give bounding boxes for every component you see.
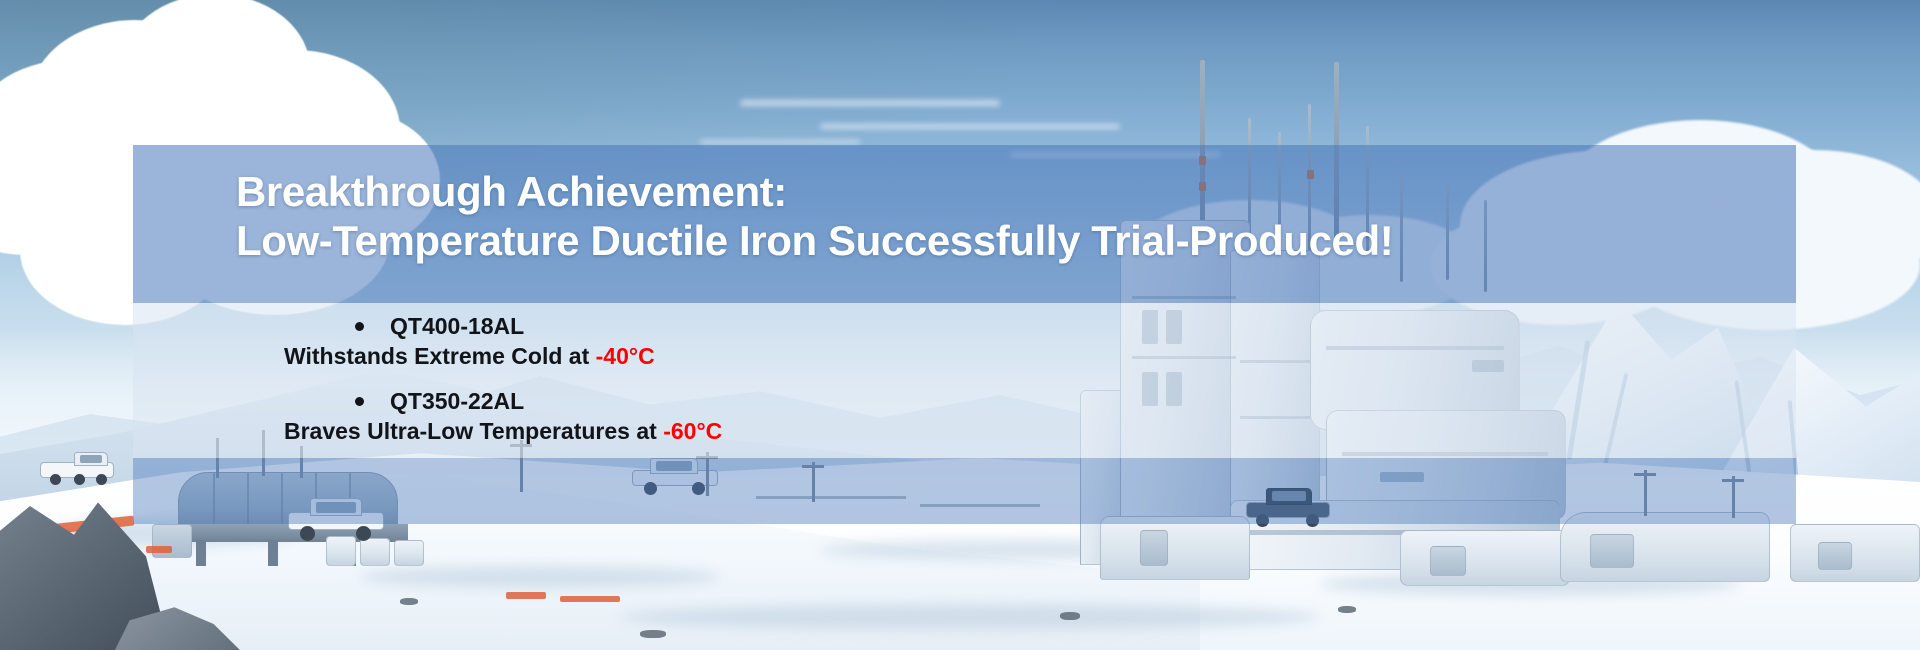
list-item: QT400-18AL Withstands Extreme Cold at -4… <box>133 313 1796 370</box>
snow-debris <box>1338 606 1356 613</box>
cloud-wisp-icon <box>820 124 1120 129</box>
bullet-row: QT350-22AL <box>133 388 1796 416</box>
feature-list: QT400-18AL Withstands Extreme Cold at -4… <box>133 313 1796 463</box>
bullet-description: Withstands Extreme Cold at -40°C <box>133 343 1796 371</box>
snow-debris <box>640 630 666 638</box>
bullet-row: QT400-18AL <box>133 313 1796 341</box>
cloud-wisp-icon <box>740 100 1000 106</box>
headline-line-2: Low-Temperature Ductile Iron Successfull… <box>236 216 1796 265</box>
promo-banner: Breakthrough Achievement: Low-Temperatur… <box>0 0 1920 650</box>
ground-marker <box>506 592 546 599</box>
description-text: Braves Ultra-Low Temperatures at <box>284 418 663 444</box>
temperature-value: -60°C <box>663 418 722 444</box>
cloud-wisp-icon <box>700 140 860 144</box>
bullet-dot-icon <box>355 322 364 331</box>
grade-label: QT400-18AL <box>390 313 524 341</box>
page-title: Breakthrough Achievement: Low-Temperatur… <box>236 167 1796 265</box>
description-text: Withstands Extreme Cold at <box>284 343 596 369</box>
list-item: QT350-22AL Braves Ultra-Low Temperatures… <box>133 388 1796 445</box>
ground-marker <box>146 546 172 553</box>
content-overlay: Breakthrough Achievement: Low-Temperatur… <box>133 145 1796 524</box>
temperature-value: -40°C <box>596 343 655 369</box>
snow-debris <box>1060 612 1080 620</box>
ground-marker <box>560 596 620 602</box>
snow-shadow <box>620 604 1320 630</box>
grade-label: QT350-22AL <box>390 388 524 416</box>
footer-panel <box>133 458 1796 524</box>
snow-vehicle <box>40 452 114 482</box>
bullet-dot-icon <box>355 397 364 406</box>
snow-shadow <box>360 566 720 588</box>
bullet-description: Braves Ultra-Low Temperatures at -60°C <box>133 418 1796 446</box>
headline-line-1: Breakthrough Achievement: <box>236 168 787 215</box>
snow-debris <box>400 598 418 605</box>
